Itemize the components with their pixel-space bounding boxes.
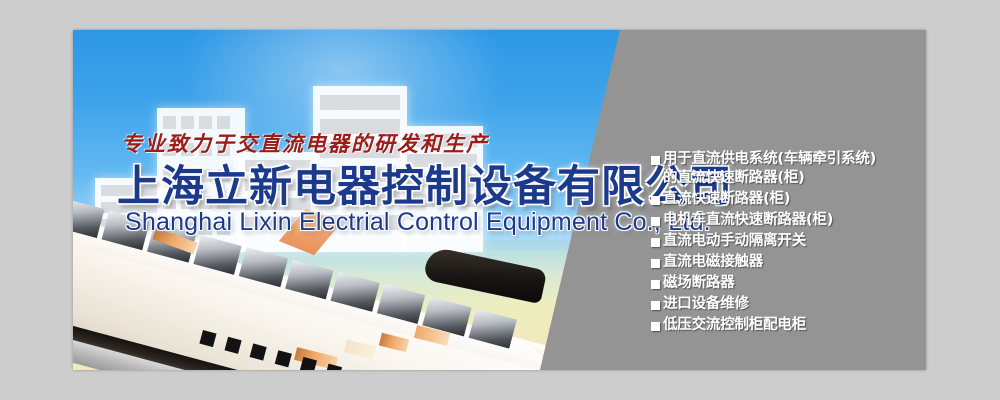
list-item: 进口设备维修	[651, 295, 913, 314]
list-item-label: 电机车直流快速断路器(柜)	[663, 211, 833, 230]
list-item-line: 用于直流供电系统(车辆牵引系统)	[663, 151, 876, 167]
company-banner: 专业致力于交直流电器的研发和生产 上海立新电器控制设备有限公司 Shanghai…	[73, 30, 926, 370]
list-item-label: 直流电磁接触器	[663, 253, 763, 272]
list-item-label: 磁场断路器	[663, 274, 735, 293]
list-item-label: 低压交流控制柜配电柜	[663, 316, 806, 335]
list-item: 直流电磁接触器	[651, 253, 913, 272]
list-item-label: 进口设备维修	[663, 295, 749, 314]
square-bullet-icon	[651, 196, 660, 205]
list-item: 直流快速断路器(柜)	[651, 190, 913, 209]
train-canopy	[423, 246, 547, 304]
list-item-label: 直流电动手动隔离开关	[663, 232, 806, 251]
product-list: 用于直流供电系统(车辆牵引系统) 的直流快速断路器(柜) 直流快速断路器(柜) …	[651, 150, 913, 337]
square-bullet-icon	[651, 156, 660, 165]
list-item-label: 直流快速断路器(柜)	[663, 190, 790, 209]
list-item: 直流电动手动隔离开关	[651, 232, 913, 251]
square-bullet-icon	[651, 259, 660, 268]
list-item: 电机车直流快速断路器(柜)	[651, 211, 913, 230]
banner-photo	[73, 30, 633, 370]
square-bullet-icon	[651, 322, 660, 331]
square-bullet-icon	[651, 301, 660, 310]
page-root: 专业致力于交直流电器的研发和生产 上海立新电器控制设备有限公司 Shanghai…	[0, 0, 1000, 400]
list-item: 低压交流控制柜配电柜	[651, 316, 913, 335]
square-bullet-icon	[651, 238, 660, 247]
square-bullet-icon	[651, 280, 660, 289]
square-bullet-icon	[651, 217, 660, 226]
list-item: 用于直流供电系统(车辆牵引系统) 的直流快速断路器(柜)	[651, 150, 913, 188]
train-stripe	[279, 209, 341, 255]
list-item-label: 用于直流供电系统(车辆牵引系统) 的直流快速断路器(柜)	[663, 150, 876, 188]
list-item-line: 的直流快速断路器(柜)	[663, 170, 805, 186]
list-item: 磁场断路器	[651, 274, 913, 293]
